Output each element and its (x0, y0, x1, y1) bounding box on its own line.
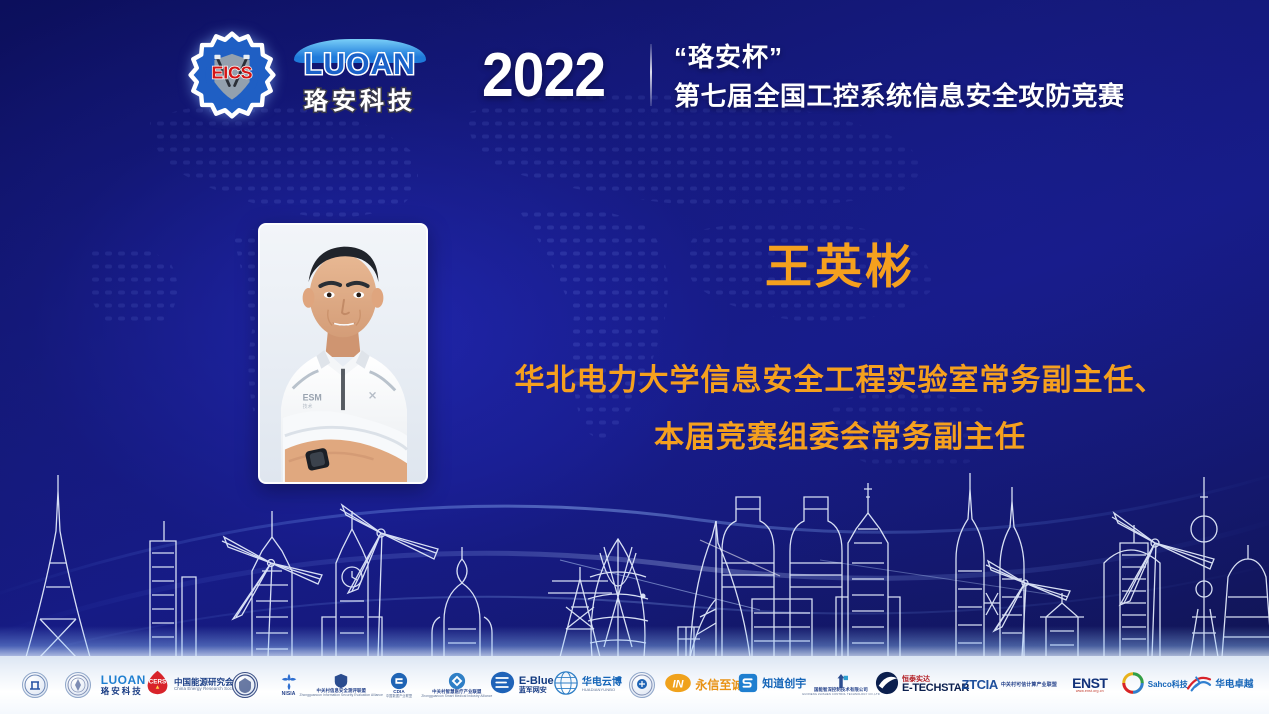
circle-emblem-icon (65, 672, 91, 698)
sahco-icon (1121, 671, 1145, 700)
sponsor-text: Sahco科技 (1148, 681, 1183, 689)
diamond-emblem-icon (448, 672, 466, 690)
swoosh-icon (1186, 672, 1212, 699)
sponsor-logo[interactable]: 中关村智慧医疗产业联盟 Zhongguancun Smart Medical I… (427, 665, 487, 705)
sponsor-chinese: 知道创宇 (762, 679, 806, 691)
svg-text:ESM: ESM (303, 392, 322, 402)
speaker-titles: 华北电力大学信息安全工程实验室常务副主任、 本届竞赛组委会常务副主任 (470, 352, 1210, 466)
sponsor-logo[interactable]: 知道创宇 (737, 665, 807, 705)
sponsor-logo[interactable] (225, 665, 266, 705)
event-year: 2022 (482, 40, 605, 111)
slide-stage: EICS LUOAN 珞安科技 2022 “珞安杯” 第七届全国工控系统信息安全… (0, 0, 1269, 714)
svg-text:CERS: CERS (149, 678, 167, 685)
sponsor-logo[interactable]: 华电云博 HUADIANYUNBO (553, 665, 619, 705)
sponsor-text: 知道创宇 (762, 679, 806, 691)
sponsor-english: China Energy Research Society (174, 687, 223, 692)
cdia-emblem-icon (390, 672, 408, 690)
in-badge-icon: IN (664, 672, 692, 699)
speaker-photo: ESM 技术 (258, 223, 428, 484)
svg-text:技术: 技术 (303, 403, 313, 410)
sponsor-logo[interactable]: CDIA 中国数据产业联盟 (373, 665, 425, 705)
luoan-sponsor-text: LUOAN 珞安科技 (101, 674, 142, 696)
sponsor-text: 华电云博 HUADIANYUNBO (582, 678, 619, 693)
sponsor-english: Zhongguancun Information Security Evalua… (300, 694, 383, 697)
zhidao-icon (737, 672, 759, 699)
sponsor-logo[interactable]: 中关村信息安全测评联盟 Zhongguancun Information Sec… (311, 665, 371, 705)
sponsor-english: NISIA (282, 692, 296, 697)
circle-emblem-icon (629, 672, 655, 698)
sponsor-latin: ZTCIA (962, 678, 998, 692)
eblue-icon (489, 670, 516, 700)
sponsor-text: 国能智深控制技术有限公司 GUONENG ZHISHEN CONTROL TEC… (809, 674, 873, 696)
luoan-chinese-text: 珞安科技 (290, 81, 430, 116)
speaker-name: 王英彬 (470, 228, 1210, 297)
svg-text:IN: IN (673, 678, 685, 690)
sponsor-english: HUADIANYUNBO (582, 688, 619, 692)
event-title-line-2: 第七届全国工控系统信息安全攻防竞赛 (674, 76, 1125, 113)
techstar-icon (875, 671, 899, 700)
sponsor-text: CDIA 中国数据产业联盟 (386, 672, 412, 698)
shield-emblem-icon (332, 673, 350, 689)
sponsor-logo[interactable]: NISIA (268, 665, 309, 705)
sponsor-latin: E-TECHSTAR (902, 683, 958, 695)
sponsor-text: 中关村信息安全测评联盟 Zhongguancun Information Sec… (311, 673, 371, 697)
sponsor-chinese: 中关村可信计算产业联盟 (1001, 682, 1057, 688)
sponsor-latin: ENST (1072, 676, 1107, 691)
sponsor-latin: E-Blue (519, 676, 551, 688)
sponsor-latin: LUOAN (101, 674, 142, 687)
sponsor-logo-bar: LUOAN 珞安科技 CERS 中国能源研究会 China Energy Res… (0, 656, 1269, 714)
sponsor-chinese: 华电卓越 (1215, 680, 1253, 690)
sponsor-logo[interactable]: E-Blue 蓝军网安 (489, 665, 551, 705)
sponsor-english: www.enst.org.cn (1076, 690, 1104, 694)
sponsor-logo[interactable]: CERS 中国能源研究会 China Energy Research Socie… (144, 665, 223, 705)
sponsor-logo[interactable] (14, 665, 55, 705)
sponsor-text: 中国能源研究会 China Energy Research Society (174, 678, 223, 692)
sponsor-text: 恒泰实达 E-TECHSTAR (902, 676, 958, 695)
sponsor-logo[interactable] (621, 665, 662, 705)
sponsor-text: E-Blue 蓝军网安 (519, 676, 551, 695)
sponsor-english: Zhongguancun Smart Medical Industry Alli… (421, 695, 492, 698)
speaker-title-line-1: 华北电力大学信息安全工程实验室常务副主任、 (470, 352, 1210, 409)
sponsor-chinese: 蓝军网安 (519, 687, 551, 694)
sponsor-logo[interactable]: IN 永信至诚 (664, 665, 734, 705)
sponsor-text: 中关村智慧医疗产业联盟 Zhongguancun Smart Medical I… (427, 672, 487, 698)
sponsor-logo[interactable] (57, 665, 98, 705)
sponsor-text: 永信至诚 (695, 679, 734, 692)
sponsor-logo[interactable]: Sahco科技 (1121, 665, 1183, 705)
luoan-latin-text: LUOAN (290, 48, 430, 82)
sponsor-chinese: 珞安科技 (101, 687, 142, 696)
sponsor-logo[interactable]: 国能智深控制技术有限公司 GUONENG ZHISHEN CONTROL TEC… (809, 665, 873, 705)
sponsor-logo[interactable]: 恒泰实达 E-TECHSTAR (875, 665, 958, 705)
event-title-line-1: “珞安杯” (674, 37, 1125, 74)
sponsor-english: GUONENG ZHISHEN CONTROL TECHNOLOGY CO.,L… (802, 693, 880, 696)
luoan-brand-logo: LUOAN 珞安科技 (290, 39, 430, 111)
sponsor-chinese: 永信至诚 (695, 679, 734, 692)
sponsor-text: 华电卓越 (1215, 680, 1253, 690)
sponsor-chinese: Sahco科技 (1148, 681, 1183, 689)
header-divider (650, 44, 652, 106)
nisia-icon (278, 672, 300, 692)
sponsor-text: ENST www.enst.org.cn (1072, 676, 1107, 694)
sponsor-english: 中国数据产业联盟 (386, 695, 412, 698)
cers-flame-icon: CERS (144, 669, 171, 701)
circle-emblem-icon (22, 672, 48, 698)
circle-emblem-icon (232, 672, 258, 698)
speaker-title-line-2: 本届竞赛组委会常务副主任 (470, 409, 1210, 466)
sponsor-text: ZTCIA 中关村可信计算产业联盟 (962, 678, 1057, 692)
svg-text:EICS: EICS (211, 63, 252, 83)
eics-gear-icon: EICS (188, 31, 276, 119)
sponsor-logo[interactable]: 华电卓越 (1185, 665, 1255, 705)
globe-icon (553, 670, 579, 701)
city-skyline-illustration (0, 467, 1269, 657)
sponsor-logo[interactable]: LUOAN 珞安科技 (101, 665, 142, 705)
event-title-group: “珞安杯” 第七届全国工控系统信息安全攻防竞赛 (674, 37, 1125, 113)
sponsor-logo[interactable]: ENST www.enst.org.cn (1061, 665, 1119, 705)
nisia-sponsor: NISIA (278, 672, 300, 697)
sponsor-logo[interactable]: ZTCIA 中关村可信计算产业联盟 (960, 665, 1059, 705)
event-header: EICS LUOAN 珞安科技 2022 “珞安杯” 第七届全国工控系统信息安全… (0, 0, 1269, 150)
